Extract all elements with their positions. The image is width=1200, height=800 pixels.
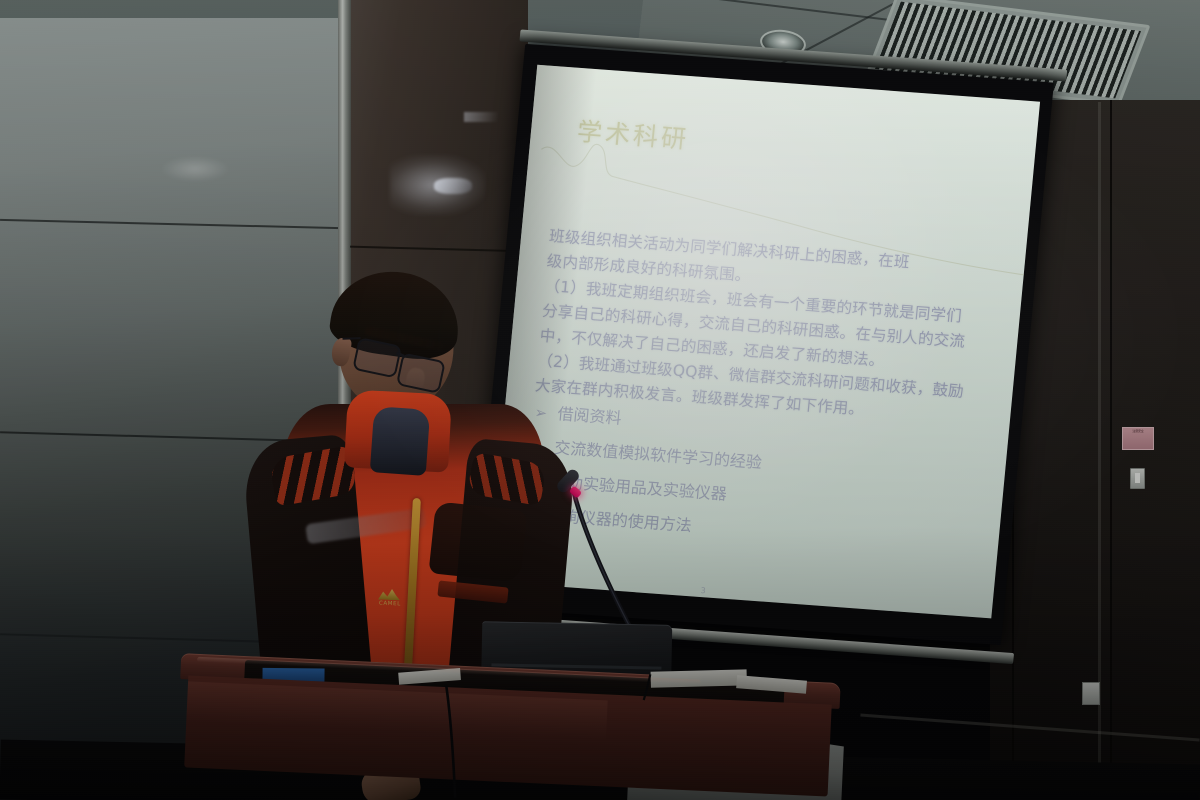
paper-sheet[interactable]: [651, 669, 747, 687]
slide-number: 3: [700, 586, 706, 595]
wall-smudge: [160, 156, 230, 182]
slide-title: 学术科研: [576, 112, 691, 156]
camel-logo-icon: [378, 588, 400, 601]
pillar-seam: [350, 246, 528, 253]
light-switch[interactable]: [1130, 468, 1145, 489]
brand-label: CAMEL: [372, 600, 408, 607]
podium: [175, 653, 840, 800]
shirt-collar: [370, 406, 430, 476]
lecture-hall-photo: 注意安全 学术科研 班级组织相关活动为同学们解决科研上的困惑，在班 级内部形成良…: [0, 0, 1200, 800]
wall-panel-seam: [1110, 100, 1112, 800]
wall-outlet[interactable]: [1082, 682, 1100, 705]
glasses-lens: [352, 337, 402, 378]
wall-sign: 注意安全: [1122, 427, 1154, 450]
jacket-brand-logo: CAMEL: [372, 587, 409, 612]
glasses-temple: [342, 337, 360, 340]
pillar-scuff: [464, 112, 498, 122]
pillar-highlight: [434, 178, 472, 194]
switch-rocker-icon[interactable]: [1135, 473, 1140, 483]
wall-panel-seam: [0, 219, 340, 229]
jacket-chest-panel: [428, 501, 527, 582]
